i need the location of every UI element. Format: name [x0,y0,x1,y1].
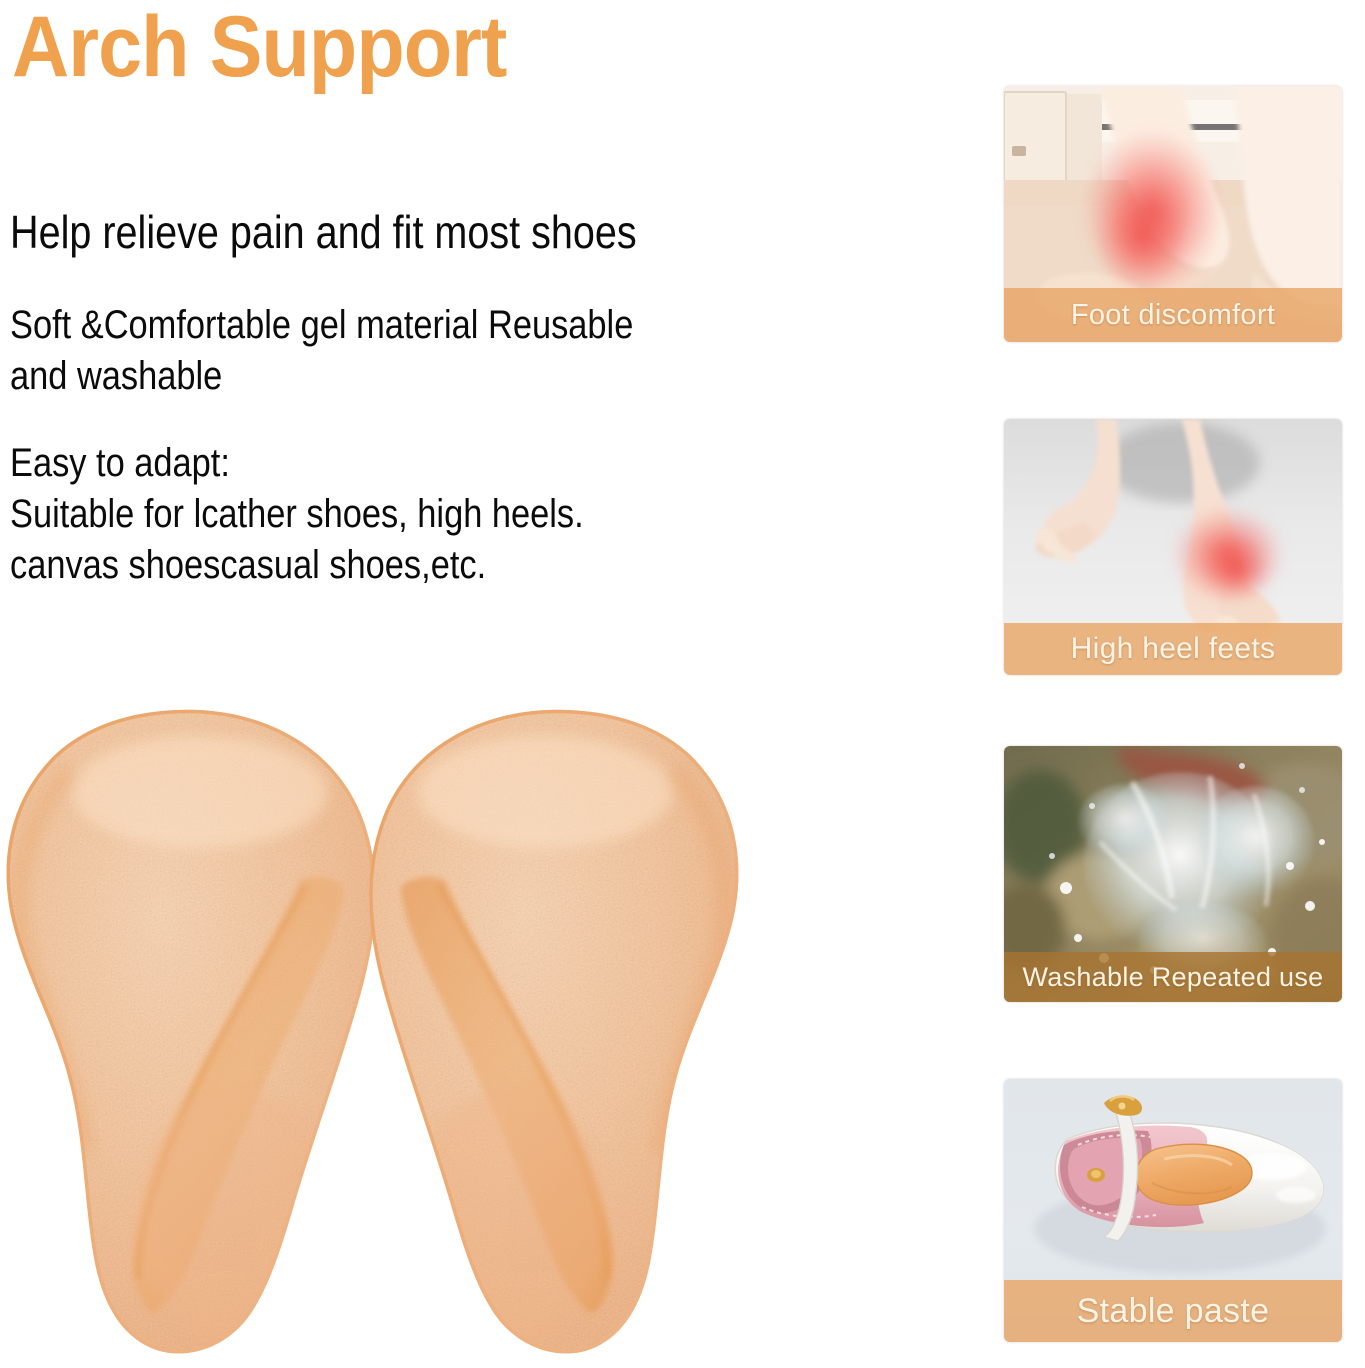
subtitle: Help relieve pain and fit most shoes [10,208,637,256]
left-content-column: Arch Support Help relieve pain and fit m… [0,0,960,1368]
benefit-panel-column: Foot discomfort [1003,0,1343,1368]
page-title: Arch Support [12,4,506,90]
panel-high-heel-feets[interactable]: High heel feets [1003,418,1343,676]
panel-stable-paste[interactable]: Stable paste [1003,1078,1343,1343]
panel-caption: Foot discomfort [1004,288,1342,342]
copy-line: Soft &Comfortable gel material Reusable [10,300,633,351]
feature-paragraph-compatibility: Easy to adapt: Suitable for lcather shoe… [10,438,584,592]
product-photo-gel-pads [0,700,760,1368]
panel-caption: Stable paste [1004,1280,1342,1342]
gel-pad-left [7,710,376,1354]
panel-foot-discomfort[interactable]: Foot discomfort [1003,85,1343,343]
panel-caption: Washable Repeated use [1004,952,1342,1002]
copy-line: canvas shoescasual shoes,etc. [10,540,584,591]
copy-line: Suitable for lcather shoes, high heels. [10,489,584,540]
feature-paragraph-material: Soft &Comfortable gel material Reusable … [10,300,633,402]
product-infographic: Arch Support Help relieve pain and fit m… [0,0,1365,1368]
copy-line: Easy to adapt: [10,438,584,489]
panel-caption: High heel feets [1004,623,1342,675]
panel-washable-repeated-use[interactable]: Washable Repeated use [1003,745,1343,1003]
gel-pads-illustration [0,700,760,1368]
copy-line: and washable [10,351,633,402]
gold-ornament [1087,1168,1105,1182]
